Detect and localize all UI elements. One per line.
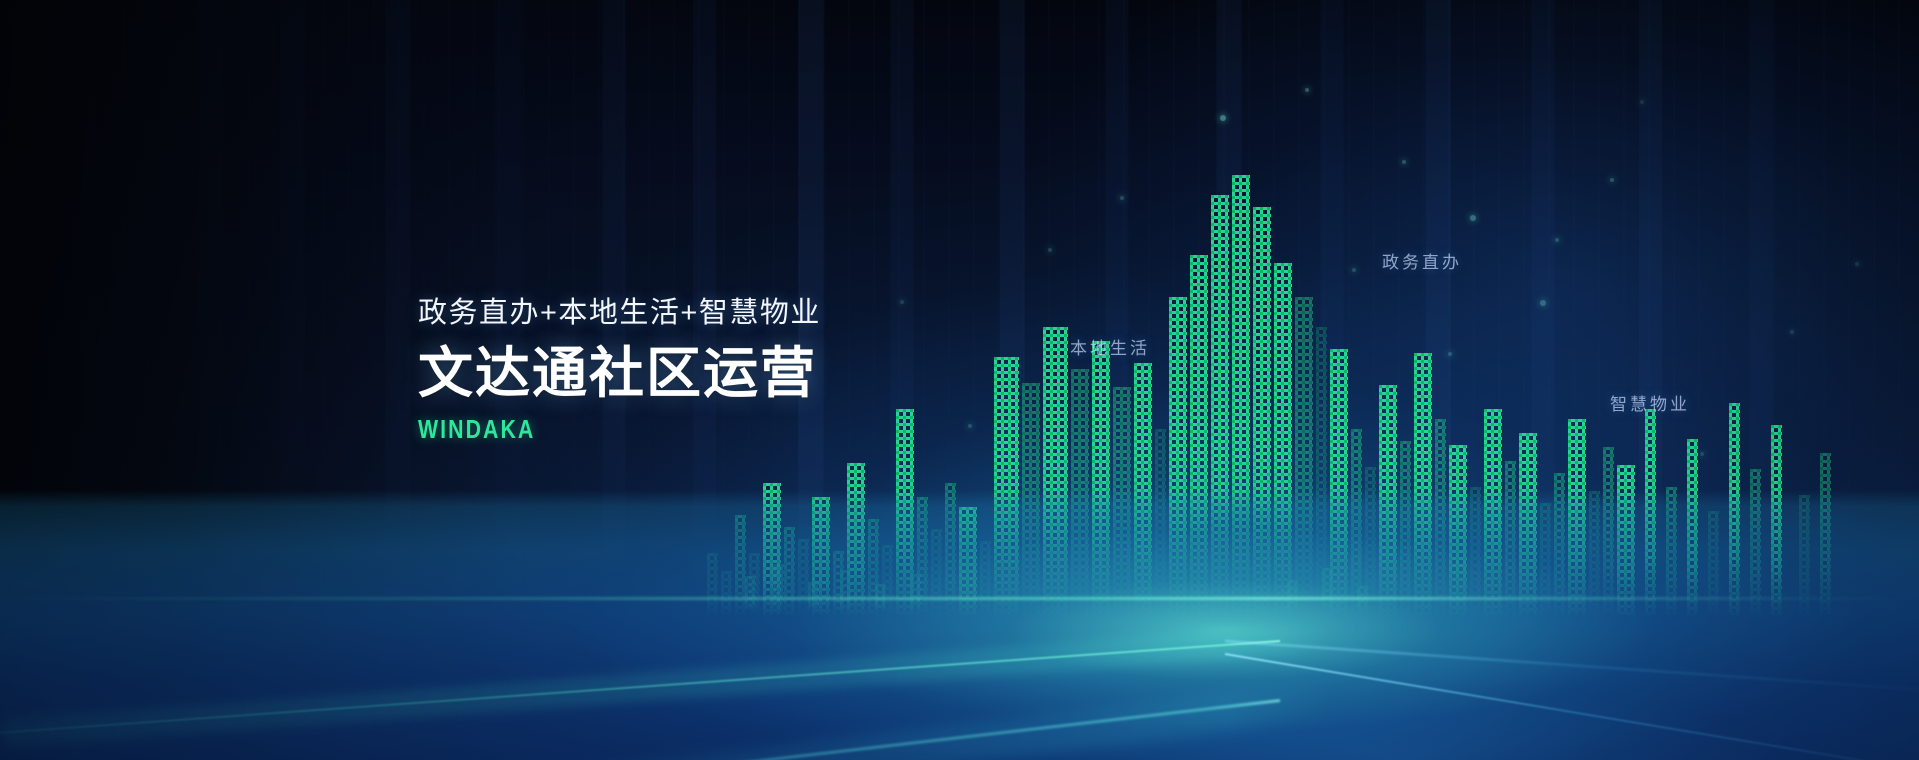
skyline-label-local-life: 本地生活 [1070, 334, 1150, 359]
hero-copy-block: 政务直办+本地生活+智慧物业 文达通社区运营 WINDAKA [418, 295, 821, 445]
horizon-glow [0, 460, 1919, 760]
hero-subtitle: 政务直办+本地生活+智慧物业 [418, 295, 821, 331]
horizon-line [0, 597, 1919, 600]
skyline-label-smart-property: 智慧物业 [1610, 390, 1690, 415]
hero-headline: 文达通社区运营 [418, 341, 821, 406]
brand-wordmark: WINDAKA [418, 414, 748, 445]
skyline-label-government: 政务直办 [1382, 248, 1462, 273]
hero-banner: 政务直办 本地生活 智慧物业 政务直办+本地生活+智慧物业 文达通社区运营 WI… [0, 0, 1919, 760]
